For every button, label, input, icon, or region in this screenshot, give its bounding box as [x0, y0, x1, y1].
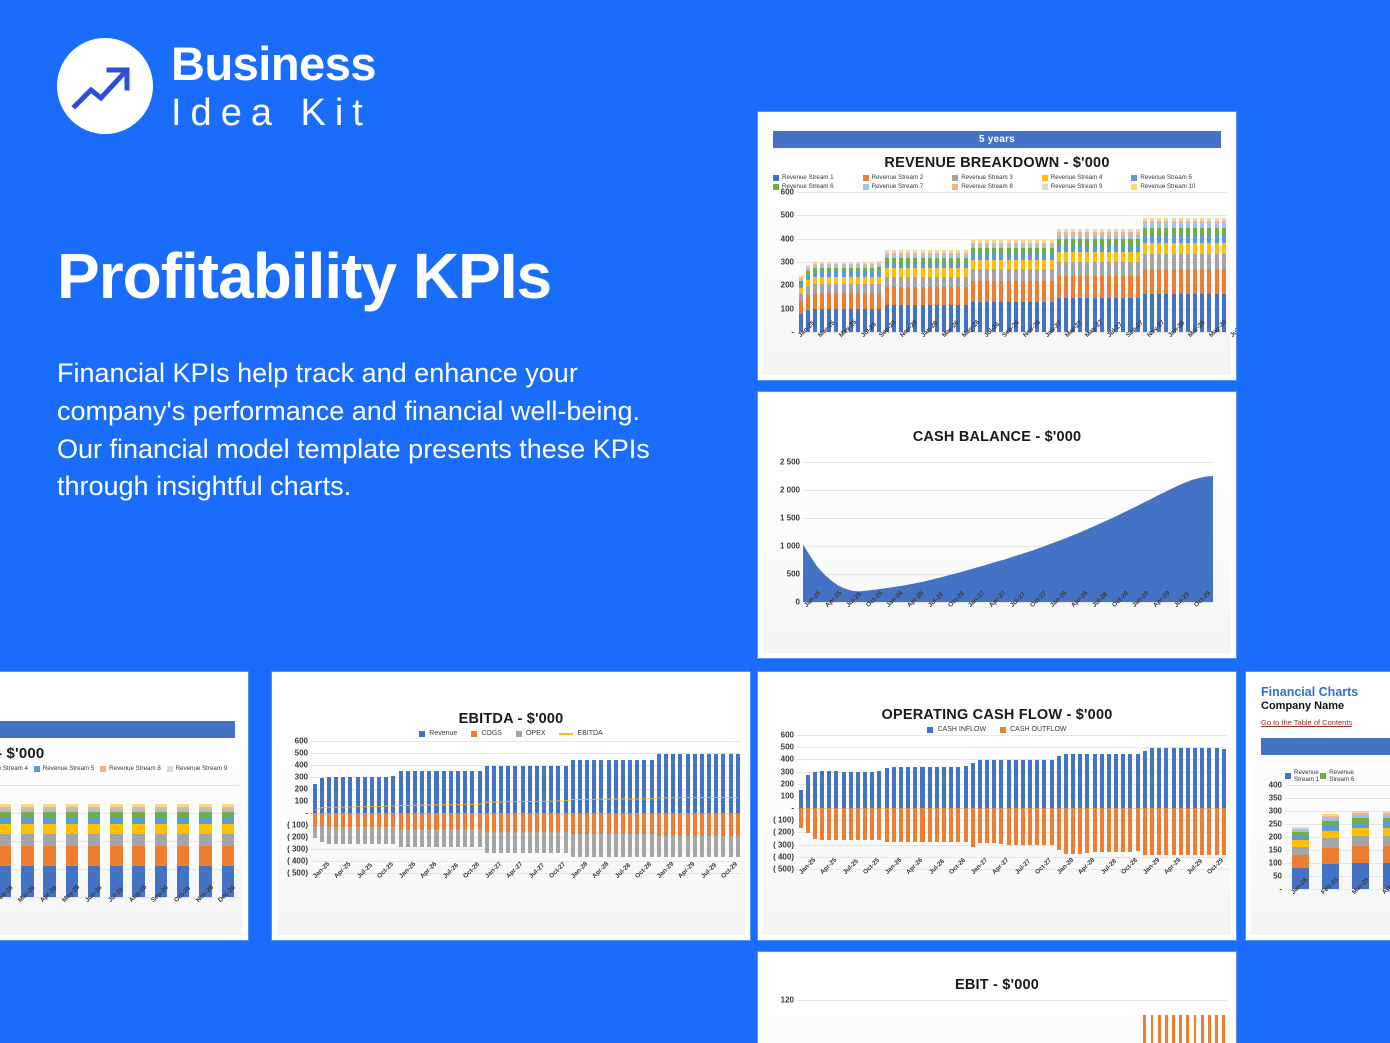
bar-segment: [1035, 760, 1039, 808]
bar-segment: [1085, 808, 1089, 853]
bar-segment: [885, 808, 889, 842]
legend-swatch-icon: [516, 731, 522, 737]
bar-segment: [978, 808, 982, 843]
bar-segment: [1071, 252, 1075, 262]
card-ebitda[interactable]: EBITDA - $'000 RevenueCOGSOPEXEBITDA 600…: [272, 672, 750, 940]
bar-segment: [1057, 252, 1061, 262]
y-tick-label: 500: [781, 743, 794, 752]
bar-segment: [1143, 235, 1147, 243]
legend-label: COGS: [481, 730, 502, 737]
legend-item: OPEX: [516, 730, 545, 737]
bar-slot: [840, 735, 847, 869]
stacked-bar: [1128, 229, 1132, 332]
bar-segment: [1100, 252, 1104, 262]
bar-segment: [1150, 243, 1154, 254]
bar-segment: [799, 301, 803, 313]
bar-segment: [1042, 281, 1046, 301]
bar-segment: [1107, 245, 1111, 252]
bar-segment: [1193, 243, 1197, 254]
bar-segment: [1172, 243, 1176, 254]
card-revenue-breakdown-5y[interactable]: 5 years REVENUE BREAKDOWN - $'000 Revenu…: [758, 112, 1236, 380]
bar-segment: [956, 305, 960, 332]
bar-segment: [1186, 228, 1190, 235]
bar-segment: [1222, 808, 1226, 855]
bar-slot: [1105, 735, 1112, 869]
bar: [1201, 1015, 1204, 1043]
card-ebit[interactable]: EBIT - $'000 12010080: [758, 952, 1236, 1043]
chart-xaxis-revenue-breakdown-24m: Nov-25Dec-25Jan-26Feb-26Mar-26Apr-26May-…: [0, 897, 243, 937]
bar-segment: [1193, 228, 1197, 235]
chart-yaxis: 12010080: [763, 1000, 797, 1043]
bar-segment: [1186, 269, 1190, 294]
bar-segment: [1057, 808, 1061, 850]
bar-segment: [1186, 808, 1190, 855]
bar-segment: [827, 293, 831, 308]
bar-segment: [813, 772, 817, 808]
bar-segment: [806, 286, 810, 295]
bar-slot: [948, 735, 955, 869]
bar-slot: [1034, 735, 1041, 869]
bar-segment: [856, 293, 860, 308]
bar-slot: [1199, 735, 1206, 869]
y-tick-label: 500: [295, 749, 308, 758]
x-tick-row: Jan-25Apr-25Jul-25Oct-25Jan-26Apr-26Jul-…: [797, 871, 1227, 878]
bar-segment: [799, 294, 803, 301]
bar-segment: [1100, 276, 1104, 299]
bar-segment: [849, 277, 853, 284]
bar-segment: [1200, 808, 1204, 855]
bar-segment: [1383, 828, 1390, 836]
bar: [1172, 1015, 1175, 1043]
bar-segment: [1093, 262, 1097, 275]
bar-segment: [1322, 831, 1339, 838]
chart-yaxis: 2 5002 0001 5001 0005000: [769, 462, 803, 602]
chart-xaxis-ebitda: Jan-25Apr-25Jul-25Oct-25Jan-26Apr-26Jul-…: [277, 873, 745, 917]
y-tick-label: ( 200): [773, 828, 794, 837]
bar-segment: [1050, 281, 1054, 301]
legend-swatch-icon: [863, 175, 869, 181]
chart-title-ebit: EBIT - $'000: [763, 957, 1231, 996]
y-tick-label: -: [305, 809, 308, 818]
bar-segment: [1179, 808, 1183, 855]
bar-segment: [928, 268, 932, 276]
legend-item: Revenue: [419, 730, 457, 737]
bar: [1179, 1015, 1182, 1043]
bar-segment: [920, 808, 924, 842]
bar-slot: [905, 735, 912, 869]
bar-segment: [1035, 260, 1039, 269]
y-tick-label: 400: [295, 761, 308, 770]
bar-slot: [1134, 735, 1141, 869]
bar-segment: [222, 846, 234, 867]
stacked-bar: [177, 804, 189, 897]
legend-swatch-icon: [773, 175, 779, 181]
bar-segment: [0, 824, 11, 833]
stacked-bar: [222, 804, 234, 897]
bar-slot: [1005, 735, 1012, 869]
bar-segment: [906, 808, 910, 842]
bar-segment: [88, 846, 100, 867]
bar-segment: [1064, 262, 1068, 275]
bar-segment: [885, 277, 889, 288]
bar-segment: [806, 295, 810, 310]
bar-segment: [820, 293, 824, 308]
stacked-bar: [1085, 229, 1089, 332]
legend-swatch-icon: [1042, 184, 1048, 190]
bar-segment: [1143, 294, 1147, 332]
bar-segment: [1121, 245, 1125, 252]
bar-segment: [155, 824, 167, 833]
bar-segment: [942, 767, 946, 808]
bar-segment: [1121, 276, 1125, 299]
bar-segment: [799, 808, 803, 827]
bar-segment: [1107, 754, 1111, 808]
bar-segment: [1207, 254, 1211, 269]
bar-segment: [1121, 808, 1125, 852]
bar-segment: [992, 260, 996, 269]
bar-segment: [913, 277, 917, 288]
bar-segment: [1035, 269, 1039, 281]
bar-segment: [110, 846, 122, 867]
bar-segment: [1093, 754, 1097, 808]
bar-segment: [43, 824, 55, 833]
bar-slot: [991, 735, 998, 869]
bar-segment: [0, 846, 11, 867]
bar-segment: [921, 287, 925, 305]
bar-segment: [906, 268, 910, 276]
bar-segment: [1021, 269, 1025, 281]
bar-segment: [999, 260, 1003, 269]
bar-segment: [66, 834, 78, 846]
bar-segment: [1383, 846, 1390, 863]
bar-slot: [804, 735, 811, 869]
bar-segment: [985, 269, 989, 281]
bar-segment: [21, 846, 33, 867]
y-tick-label: 300: [781, 767, 794, 776]
bar-segment: [1215, 808, 1219, 855]
bar-slot: [1156, 735, 1163, 869]
bar-segment: [1100, 754, 1104, 808]
bar-segment: [1114, 276, 1118, 299]
bar-segment: [1172, 228, 1176, 235]
bar-segment: [1085, 298, 1089, 332]
bar-segment: [1057, 756, 1061, 808]
bar-segment: [971, 808, 975, 847]
bar-slot: [819, 735, 826, 869]
bar-segment: [1078, 808, 1082, 854]
bar-segment: [1157, 228, 1161, 235]
bar-segment: [956, 277, 960, 288]
bar-segment: [906, 277, 910, 288]
legend-label: CASH OUTFLOW: [1010, 726, 1066, 733]
card-cash-balance[interactable]: CASH BALANCE - $'000 2 5002 0001 5001 00…: [758, 392, 1236, 658]
legend-swatch-icon: [952, 184, 958, 190]
bar-segment: [971, 260, 975, 269]
slide-root: Business Idea Kit Profitability KPIs Fin…: [0, 0, 1390, 1043]
period-band-5-years: 5 years: [773, 131, 1221, 148]
chart-title-revenue-breakdown: REVENUE BREAKDOWN - $'000: [763, 148, 1231, 174]
bar-segment: [1042, 760, 1046, 808]
bar-segment: [1064, 252, 1068, 262]
legend-swatch-icon: [100, 766, 106, 772]
legend-swatch-icon: [471, 731, 477, 737]
y-tick-label: 50: [1273, 872, 1282, 881]
bar-segment: [1172, 269, 1176, 294]
bar-segment: [1028, 260, 1032, 269]
bar-segment: [949, 268, 953, 276]
bar-series: [797, 1000, 1227, 1043]
card-financial-charts[interactable]: Financial Charts Company Name Go to the …: [1246, 672, 1390, 940]
bar-segment: [1007, 281, 1011, 301]
bar-slot: [811, 735, 818, 869]
chart-yaxis: 40035030025020015010050-: [1251, 785, 1285, 889]
bar-segment: [1193, 808, 1197, 855]
bar-segment: [1064, 808, 1068, 854]
bar-series: [797, 735, 1227, 869]
bar-segment: [1157, 235, 1161, 243]
chart-yaxis: 600500400300200100-( 100)( 200)( 300)( 4…: [763, 735, 797, 869]
bar-segment: [1172, 808, 1176, 855]
legend-label: EBITDA: [577, 730, 602, 737]
bar-segment: [935, 287, 939, 305]
stacked-bar: [1114, 229, 1118, 332]
bar-segment: [1164, 235, 1168, 243]
y-tick-label: 2 000: [780, 486, 800, 495]
bar-slot: [919, 735, 926, 869]
bar-segment: [985, 281, 989, 301]
bar-segment: [834, 277, 838, 284]
bar-segment: [863, 293, 867, 308]
bar: [1186, 1015, 1189, 1043]
bar-segment: [1007, 260, 1011, 269]
legend-label: Revenue Stream 7: [872, 183, 924, 190]
bar-slot: [854, 735, 861, 869]
bar-segment: [1028, 808, 1032, 845]
bar-segment: [942, 277, 946, 288]
bar-segment: [1215, 235, 1219, 243]
bar-segment: [964, 766, 968, 808]
stacked-bar: [992, 240, 996, 332]
bar-segment: [1136, 754, 1140, 808]
bar-segment: [1128, 808, 1132, 852]
bar-segment: [935, 277, 939, 288]
legend-label: Revenue Stream 8: [109, 765, 161, 772]
bar-segment: [899, 277, 903, 288]
bar-segment: [877, 293, 881, 309]
legend-item: Revenue Stream 5: [1131, 174, 1221, 181]
legend-item: Revenue Stream 4: [0, 765, 34, 772]
stacked-bar: [899, 250, 903, 332]
bar-segment: [935, 268, 939, 276]
bar-slot: [890, 735, 897, 869]
bar-segment: [1014, 760, 1018, 808]
bar-segment: [849, 293, 853, 308]
legend-item: Revenue Stream 1: [773, 174, 863, 181]
y-tick-label: 100: [781, 791, 794, 800]
page-subtitle: Financial KPIs help track and enhance yo…: [57, 355, 657, 506]
bar: [1215, 1015, 1218, 1043]
stacked-bar: [971, 240, 975, 332]
bar-segment: [827, 808, 831, 840]
bar-segment: [1057, 276, 1061, 299]
bar-segment: [1021, 281, 1025, 301]
chart-title-cash-balance: CASH BALANCE - $'000: [763, 397, 1231, 448]
bar-segment: [1193, 235, 1197, 243]
bar-segment: [1352, 846, 1369, 863]
bar-series: [1285, 785, 1390, 889]
bar-segment: [1322, 838, 1339, 848]
legend-item: Revenue Stream 4: [1042, 174, 1132, 181]
legend-swatch-icon: [559, 733, 573, 735]
stacked-bar: [1150, 218, 1154, 332]
bar-slot: [826, 735, 833, 869]
bar-segment: [834, 309, 838, 332]
bar-segment: [199, 824, 211, 833]
bar-segment: [1071, 808, 1075, 854]
bar-segment: [1107, 276, 1111, 299]
bar-segment: [992, 760, 996, 808]
bar-segment: [971, 269, 975, 281]
bar-segment: [856, 309, 860, 332]
bar-segment: [1050, 808, 1054, 845]
card-operating-cash-flow[interactable]: OPERATING CASH FLOW - $'000 CASH INFLOWC…: [758, 672, 1236, 940]
company-name-label: Company Name: [1261, 700, 1390, 712]
bar-segment: [1050, 269, 1054, 281]
legend-label: Revenue Stream 5: [43, 765, 95, 772]
bar-segment: [892, 767, 896, 808]
bar-segment: [1215, 243, 1219, 254]
legend-label: Revenue Stream 10: [1140, 183, 1195, 190]
bar-segment: [1215, 254, 1219, 269]
stacked-bar: [1100, 229, 1104, 332]
stacked-bar: [1050, 240, 1054, 332]
y-tick-label: 250: [1269, 820, 1282, 829]
bar-segment: [1128, 754, 1132, 808]
bar-segment: [1200, 243, 1204, 254]
chart-plot-revenue-breakdown-24m: [0, 785, 243, 897]
legend-swatch-icon: [167, 766, 173, 772]
stacked-bar: [1021, 240, 1025, 332]
bar-segment: [1078, 276, 1082, 299]
bar-segment: [813, 284, 817, 293]
bar-segment: [1193, 748, 1197, 808]
bar-segment: [1352, 828, 1369, 836]
legend-label: Revenue Stream 9: [176, 765, 228, 772]
bar-segment: [1014, 269, 1018, 281]
bar-segment: [1007, 269, 1011, 281]
bar-slot: [1091, 735, 1098, 869]
bar-series: [797, 192, 1227, 332]
bar-segment: [834, 771, 838, 808]
bar-segment: [1150, 235, 1154, 243]
bar-segment: [1222, 235, 1226, 243]
chart-plot-operating-cash-flow: 600500400300200100-( 100)( 200)( 300)( 4…: [763, 735, 1231, 869]
bar-segment: [177, 846, 189, 867]
legend-swatch-icon: [1000, 727, 1006, 733]
stacked-bar: [1164, 218, 1168, 332]
legend-item: CASH INFLOW: [927, 726, 986, 733]
bar: [1222, 1015, 1225, 1043]
brand-logo: Business Idea Kit: [57, 38, 376, 134]
bar-segment: [1207, 228, 1211, 235]
legend-swatch-icon: [34, 766, 40, 772]
legend-label: Revenue Stream 3: [961, 174, 1013, 181]
bar-segment: [1114, 252, 1118, 262]
bar-segment: [856, 284, 860, 293]
bar-segment: [1114, 245, 1118, 252]
table-of-contents-link[interactable]: Go to the Table of Contents: [1261, 718, 1352, 727]
bar-segment: [1164, 254, 1168, 269]
y-tick-label: 600: [781, 188, 794, 197]
bar-segment: [1172, 748, 1176, 808]
stacked-bar: [964, 250, 968, 332]
legend-swatch-icon: [927, 727, 933, 733]
stacked-bar: [799, 276, 803, 332]
bar-segment: [842, 808, 846, 840]
chart-plot-revenue-breakdown: 600500400300200100-: [763, 192, 1231, 332]
bar-segment: [1093, 252, 1097, 262]
bar-slot: [1213, 735, 1220, 869]
legend-item: COGS: [471, 730, 502, 737]
chart-xaxis-operating-cash-flow: Jan-25Apr-25Jul-25Oct-25Jan-26Apr-26Jul-…: [763, 869, 1231, 913]
bar-segment: [956, 268, 960, 276]
bar-segment: [1164, 243, 1168, 254]
y-tick-label: 120: [781, 996, 794, 1005]
card-revenue-breakdown-24m[interactable]: 24 months REAKDOWN - $'000 Revenue Strea…: [0, 672, 248, 940]
bar-segment: [1007, 808, 1011, 845]
chart-title-operating-cash-flow: OPERATING CASH FLOW - $'000: [763, 677, 1231, 726]
bar-slot: [955, 735, 962, 869]
bar-segment: [1028, 760, 1032, 808]
chart-yaxis: 600500400300200100-: [763, 192, 797, 332]
bar: [1208, 1015, 1211, 1043]
stacked-bar: [985, 240, 989, 332]
x-tick-row: Jan-25Feb-25Mar-25Apr-25May-25Jun-25: [1285, 891, 1390, 898]
bar-segment: [1085, 262, 1089, 275]
bar-segment: [222, 834, 234, 846]
bar-segment: [1093, 276, 1097, 299]
bar-segment: [820, 771, 824, 808]
bar-segment: [849, 284, 853, 293]
bar-segment: [877, 309, 881, 332]
stacked-bar: [906, 250, 910, 332]
stacked-bar: [863, 262, 867, 332]
bar-segment: [1021, 808, 1025, 845]
bar-segment: [820, 284, 824, 293]
bar-segment: [1179, 235, 1183, 243]
bar-segment: [885, 768, 889, 808]
bar-slot: [976, 735, 983, 869]
bar-segment: [1207, 748, 1211, 808]
y-tick-label: 300: [295, 773, 308, 782]
bar-segment: [978, 302, 982, 332]
stacked-bar: [842, 262, 846, 332]
bar-segment: [949, 287, 953, 305]
bar-segment: [999, 760, 1003, 808]
bar-segment: [899, 287, 903, 305]
bar-segment: [1164, 808, 1168, 855]
bar-segment: [999, 808, 1003, 844]
bar-segment: [1292, 847, 1309, 855]
bar-slot: [969, 735, 976, 869]
bar-slot: [1120, 735, 1127, 869]
bar-slot: [883, 735, 890, 869]
bar-segment: [177, 824, 189, 833]
stacked-bar: [1157, 218, 1161, 332]
stacked-bar: [1064, 229, 1068, 332]
bar-segment: [849, 808, 853, 840]
bar-segment: [132, 846, 144, 867]
